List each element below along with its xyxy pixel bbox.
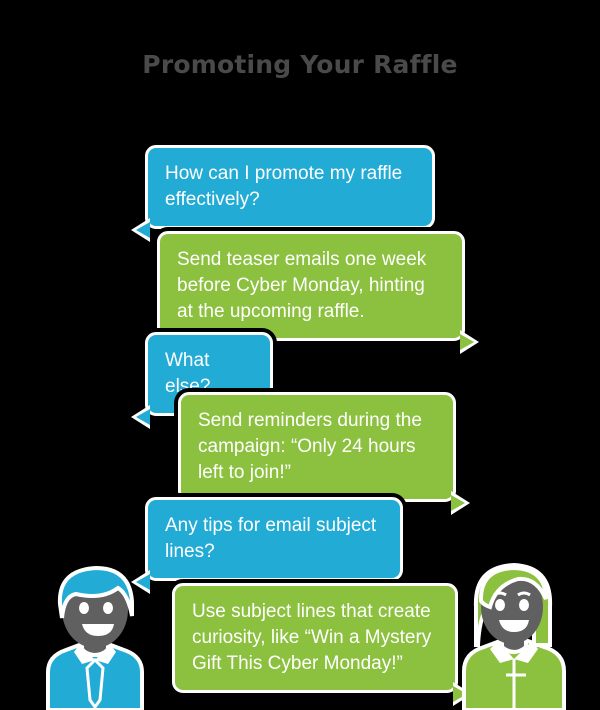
chat-bubble-question-1[interactable]: How can I promote my raffle effectively?: [145, 145, 435, 229]
eye-right-icon: [519, 599, 529, 611]
chat-bubble-text: How can I promote my raffle effectively?: [165, 161, 414, 213]
eye-left-icon: [495, 599, 505, 611]
eye-left-icon: [79, 602, 89, 614]
chat-bubble-text: Use subject lines that create curiosity,…: [192, 599, 437, 677]
conversation-infographic: Promoting Your Raffle How can I promote …: [0, 0, 600, 710]
eye-right-icon: [103, 602, 113, 614]
chat-bubble-text: Send teaser emails one week before Cyber…: [177, 247, 444, 325]
woman-avatar: [448, 555, 578, 710]
chat-bubble-text: Any tips for email subject lines?: [165, 513, 382, 565]
chat-bubble-text: Send reminders during the campaign: “Onl…: [198, 408, 435, 486]
chat-bubble-question-3[interactable]: Any tips for email subject lines?: [145, 497, 403, 581]
man-avatar: [30, 560, 160, 710]
chat-bubble-answer-2[interactable]: Send reminders during the campaign: “Onl…: [178, 392, 456, 502]
necktie-shape: [87, 660, 103, 707]
chat-bubble-answer-1[interactable]: Send teaser emails one week before Cyber…: [157, 231, 465, 341]
chat-bubble-answer-3[interactable]: Use subject lines that create curiosity,…: [172, 583, 458, 693]
